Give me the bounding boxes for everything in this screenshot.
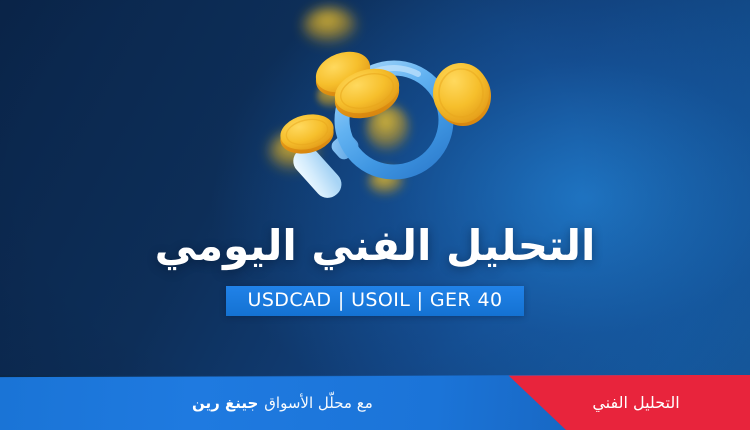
magnifying-glass-icon xyxy=(270,4,500,214)
analyst-credit: مع محلّل الأسواق جينغ رين xyxy=(0,375,420,430)
instruments-badge: USDCAD | USOIL | GER 40 xyxy=(226,286,525,316)
page-title: التحليل الفني اليومي xyxy=(0,222,750,270)
coin-blurred-top xyxy=(303,7,357,45)
category-label: التحليل الفني xyxy=(492,375,750,430)
footer-bar: مع محلّل الأسواق جينغ رين التحليل الفني xyxy=(0,375,750,430)
analyst-name: جينغ رين xyxy=(192,394,258,412)
analyst-credit-lead: مع محلّل الأسواق xyxy=(264,394,372,412)
instruments-badge-wrapper: USDCAD | USOIL | GER 40 xyxy=(0,286,750,316)
daily-technical-analysis-banner: التحليل الفني اليومي USDCAD | USOIL | GE… xyxy=(0,0,750,430)
